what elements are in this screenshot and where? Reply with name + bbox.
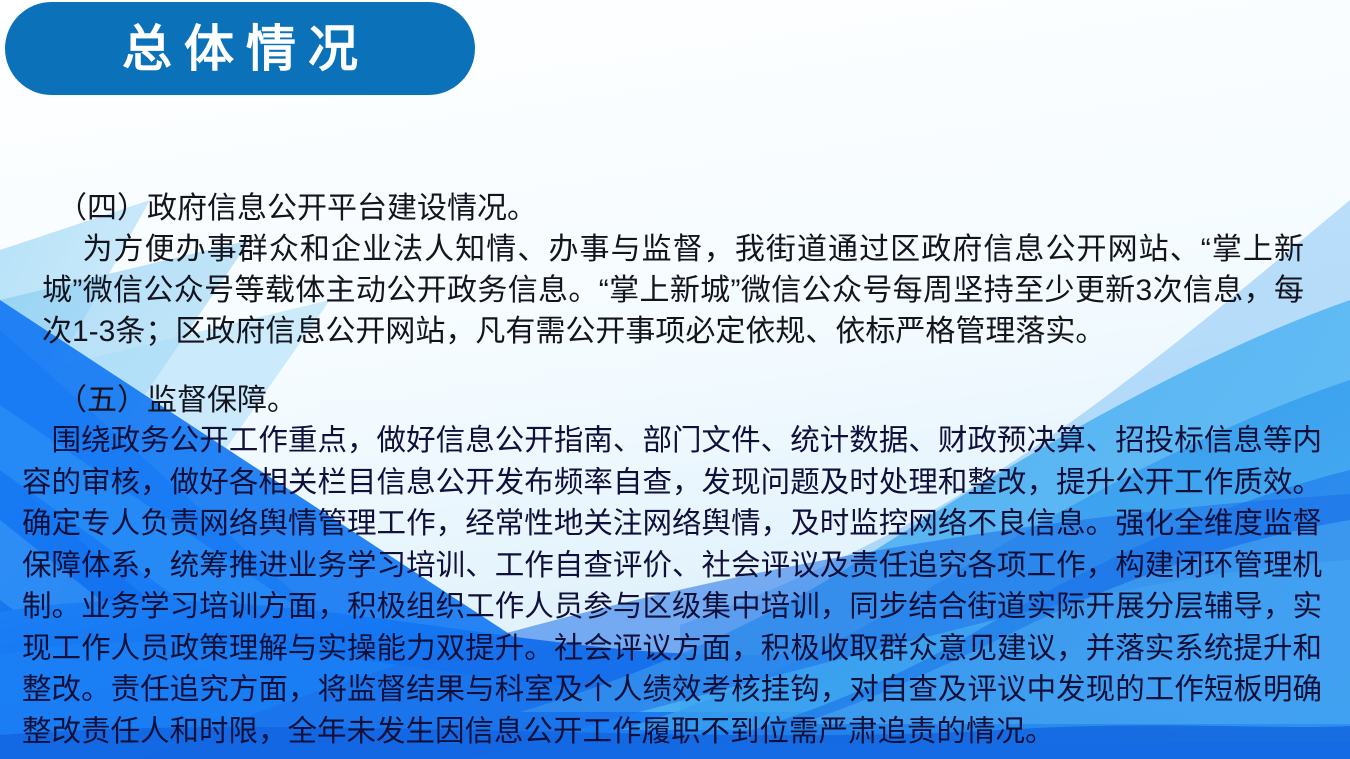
paragraph-section-five-body: 围绕政务公开工作重点，做好信息公开指南、部门文件、统计数据、财政预决算、招投标信… [22,420,1322,752]
slide: 总体情况 （四）政府信息公开平台建设情况。 为方便办事群众和企业法人知情、办事与… [0,0,1350,759]
paragraph-section-five-title: （五）监督保障。 [42,380,1304,421]
section-title-text: 总体情况 [110,24,370,74]
slide-content: （四）政府信息公开平台建设情况。 为方便办事群众和企业法人知情、办事与监督，我街… [0,0,1350,759]
section-title-badge: 总体情况 [5,2,475,95]
paragraph-section-four: （四）政府信息公开平台建设情况。 为方便办事群众和企业法人知情、办事与监督，我街… [42,188,1304,352]
